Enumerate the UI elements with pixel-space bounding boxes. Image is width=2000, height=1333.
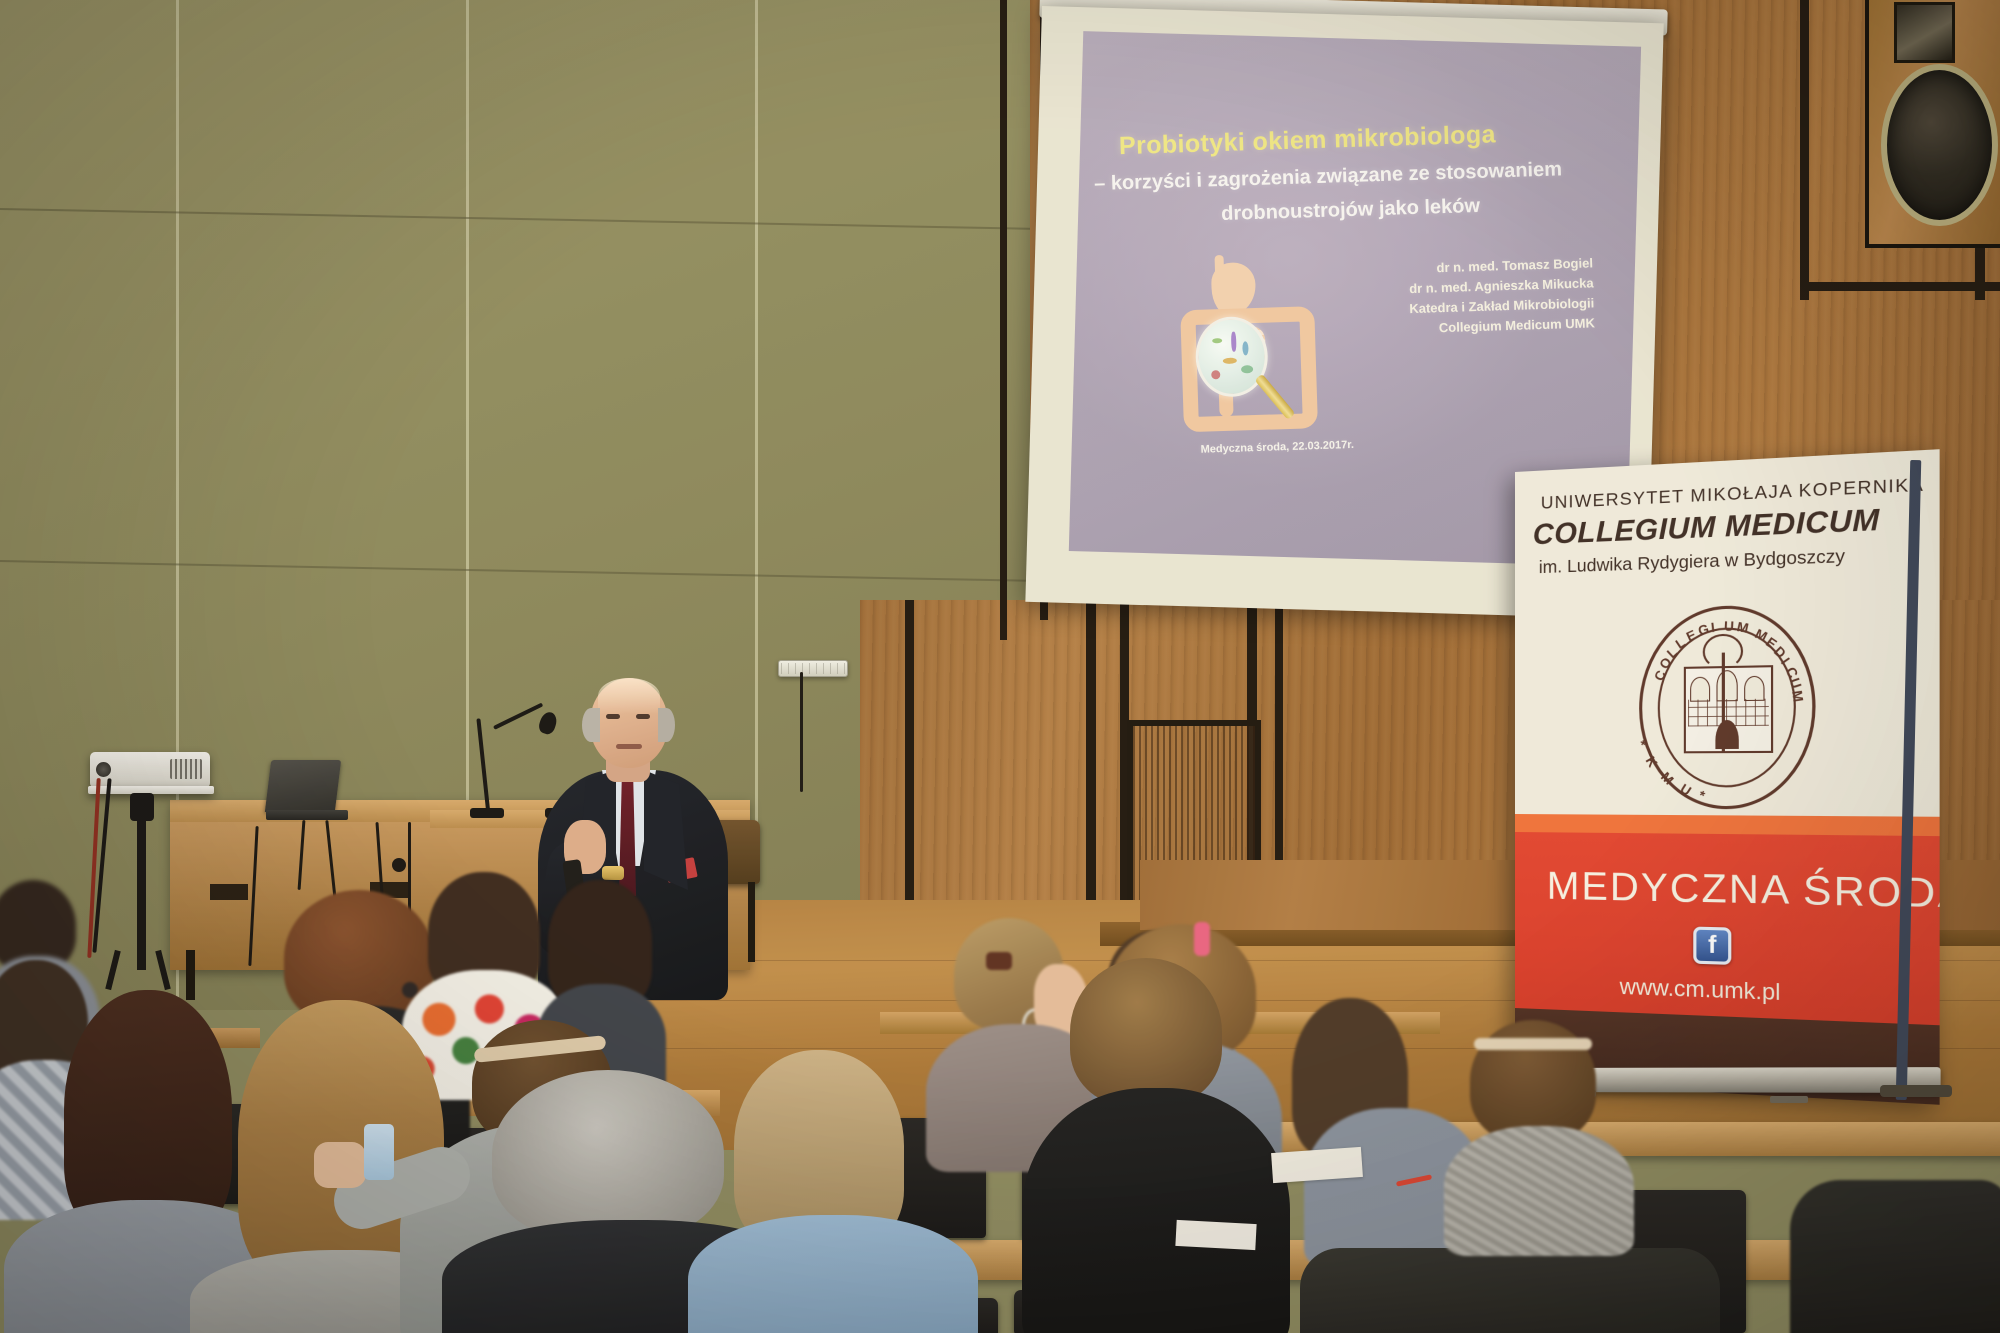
banner-support-foot [1880, 1085, 1952, 1097]
presenter-side-hair [582, 708, 600, 742]
slide-subtitle-line-1: – korzyści i zagrożenia związane ze stos… [1094, 158, 1562, 196]
slide-author-list: dr n. med. Tomasz Bogiel dr n. med. Agni… [1313, 253, 1595, 342]
presenter-laptop-base[interactable] [266, 810, 348, 820]
microbe-dot [1241, 365, 1253, 373]
torso-knit [1444, 1126, 1634, 1256]
facebook-icon[interactable]: f [1693, 927, 1731, 965]
presenter-eye [636, 714, 650, 719]
wall-mullion [905, 600, 914, 930]
seal-letter: * [1697, 787, 1707, 803]
esophagus-shape [1215, 255, 1225, 277]
microbe-dot [1242, 341, 1248, 355]
hair-dark-blonde [1070, 958, 1222, 1106]
hair-tie-pink [1194, 922, 1210, 956]
projector-lens [96, 762, 111, 777]
presenter-mouth [616, 744, 642, 749]
presenter-bald-highlight [598, 678, 660, 714]
torso-black-sweater [1022, 1088, 1290, 1333]
presenter-side-hair [658, 708, 675, 742]
paper-sheet [1271, 1147, 1363, 1183]
projector-vent [170, 759, 202, 779]
torso-dark-coat [1300, 1248, 1720, 1333]
audience-member [1790, 1160, 2000, 1333]
audience-member [1028, 958, 1278, 1333]
desk-recess [210, 884, 248, 900]
microbe-dot [1212, 338, 1222, 343]
wall-mullion [1086, 595, 1096, 935]
slide-subtitle-line-2: drobnoustrojów jako leków [1221, 195, 1481, 226]
fixture-cable [800, 672, 803, 792]
seal-letter: K [1642, 754, 1660, 770]
audience-member [1452, 1020, 1622, 1220]
banner-foot [1770, 1096, 1808, 1103]
audience-member-foreground [700, 1050, 960, 1333]
lecture-hall-photo: Probiotyki okiem mikrobiologa – korzyści… [0, 0, 2000, 1333]
presenter-watch [602, 866, 624, 880]
slide-title: Probiotyki okiem mikrobiologa [1119, 120, 1497, 161]
rollup-banner: UNIWERSYTET MIKOŁAJA KOPERNIKA COLLEGIUM… [1515, 449, 1940, 1105]
paper-sheet [1175, 1220, 1256, 1250]
wall-mullion [1000, 0, 1007, 640]
wall-light-fixture [778, 660, 848, 677]
audience-member-foreground [1300, 1248, 1720, 1333]
microbe-dot [1211, 370, 1220, 379]
wall-mullion [1800, 0, 1809, 300]
hand [314, 1142, 366, 1188]
presenter-eye [606, 714, 620, 719]
tripod-column [137, 818, 146, 970]
torso-light-blue [688, 1215, 978, 1333]
presenter-laptop-screen[interactable] [265, 760, 341, 812]
water-bottle[interactable] [364, 1124, 394, 1180]
microbe-dot [1231, 332, 1237, 352]
hair-clip [986, 952, 1012, 970]
wall-mullion-horizontal [1800, 282, 2000, 291]
torso-dark [1790, 1180, 2000, 1333]
hair-grey [492, 1070, 724, 1240]
speaker-woofer-driver [1881, 64, 1998, 226]
digestive-tract-illustration [1163, 258, 1318, 413]
microbe-dot [1223, 358, 1237, 364]
slide-footer-date: Medyczna środa, 22.03.2017r. [1200, 439, 1354, 456]
tripod-head [130, 793, 154, 821]
wall-seam-vertical [755, 0, 758, 840]
seal-letter: M [1658, 769, 1677, 788]
wall-loudspeaker [1865, 0, 2000, 248]
speaker-horn-tweeter [1894, 2, 1955, 63]
seal-letter: U [1677, 781, 1694, 799]
hairband [1474, 1038, 1592, 1050]
lavalier-microphone [392, 858, 406, 872]
collegium-medicum-seal: C O L L E G I U M M E D I C U M [1639, 603, 1815, 809]
audience-member [1282, 998, 1462, 1258]
seal-bottom-text: * U M K * [1642, 607, 1812, 807]
